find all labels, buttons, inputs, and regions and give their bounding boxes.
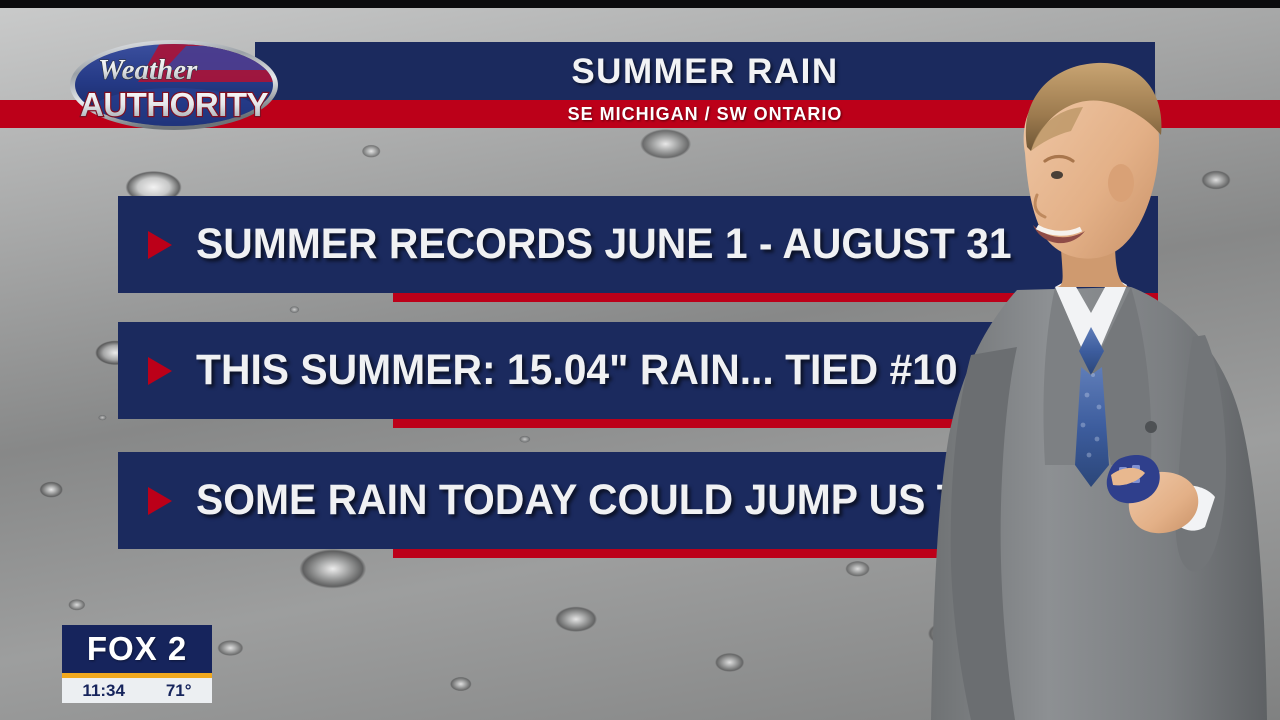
bullet-text-1: SUMMER RECORDS JUNE 1 - AUGUST 31 — [196, 220, 1012, 269]
bullet-arrow-icon — [148, 487, 172, 515]
bullet-text-3: SOME RAIN TODAY COULD JUMP US TO — [196, 476, 993, 525]
temperature-reading: 71° — [166, 681, 192, 701]
logo-line1-text: Weather — [98, 54, 198, 86]
bug-info-bar: 11:34 71° — [62, 678, 212, 703]
bullet-arrow-icon — [148, 357, 172, 385]
station-bug: FOX 2 11:34 71° — [62, 625, 212, 703]
bullet-arrow-icon — [148, 231, 172, 259]
bullet-bar-3: SOME RAIN TODAY COULD JUMP US TO — [118, 452, 1018, 549]
letterbox-bar — [0, 0, 1280, 8]
fox2-logo: FOX 2 — [62, 625, 212, 673]
logo-line2-text: AUTHORITY — [80, 86, 268, 123]
weather-authority-logo: Weather AUTHORITY — [68, 40, 280, 130]
clock-time: 11:34 — [82, 681, 125, 701]
bullet-text-2: THIS SUMMER: 15.04" RAIN... TIED #10 — [196, 346, 958, 395]
fox2-logo-text: FOX 2 — [87, 630, 187, 668]
meteorologist-presenter — [905, 35, 1280, 720]
bullet-bar-2: THIS SUMMER: 15.04" RAIN... TIED #10 — [118, 322, 1038, 419]
broadcast-screen: SUMMER RAIN SE MICHIGAN / SW ONTARIO — [0, 0, 1280, 720]
